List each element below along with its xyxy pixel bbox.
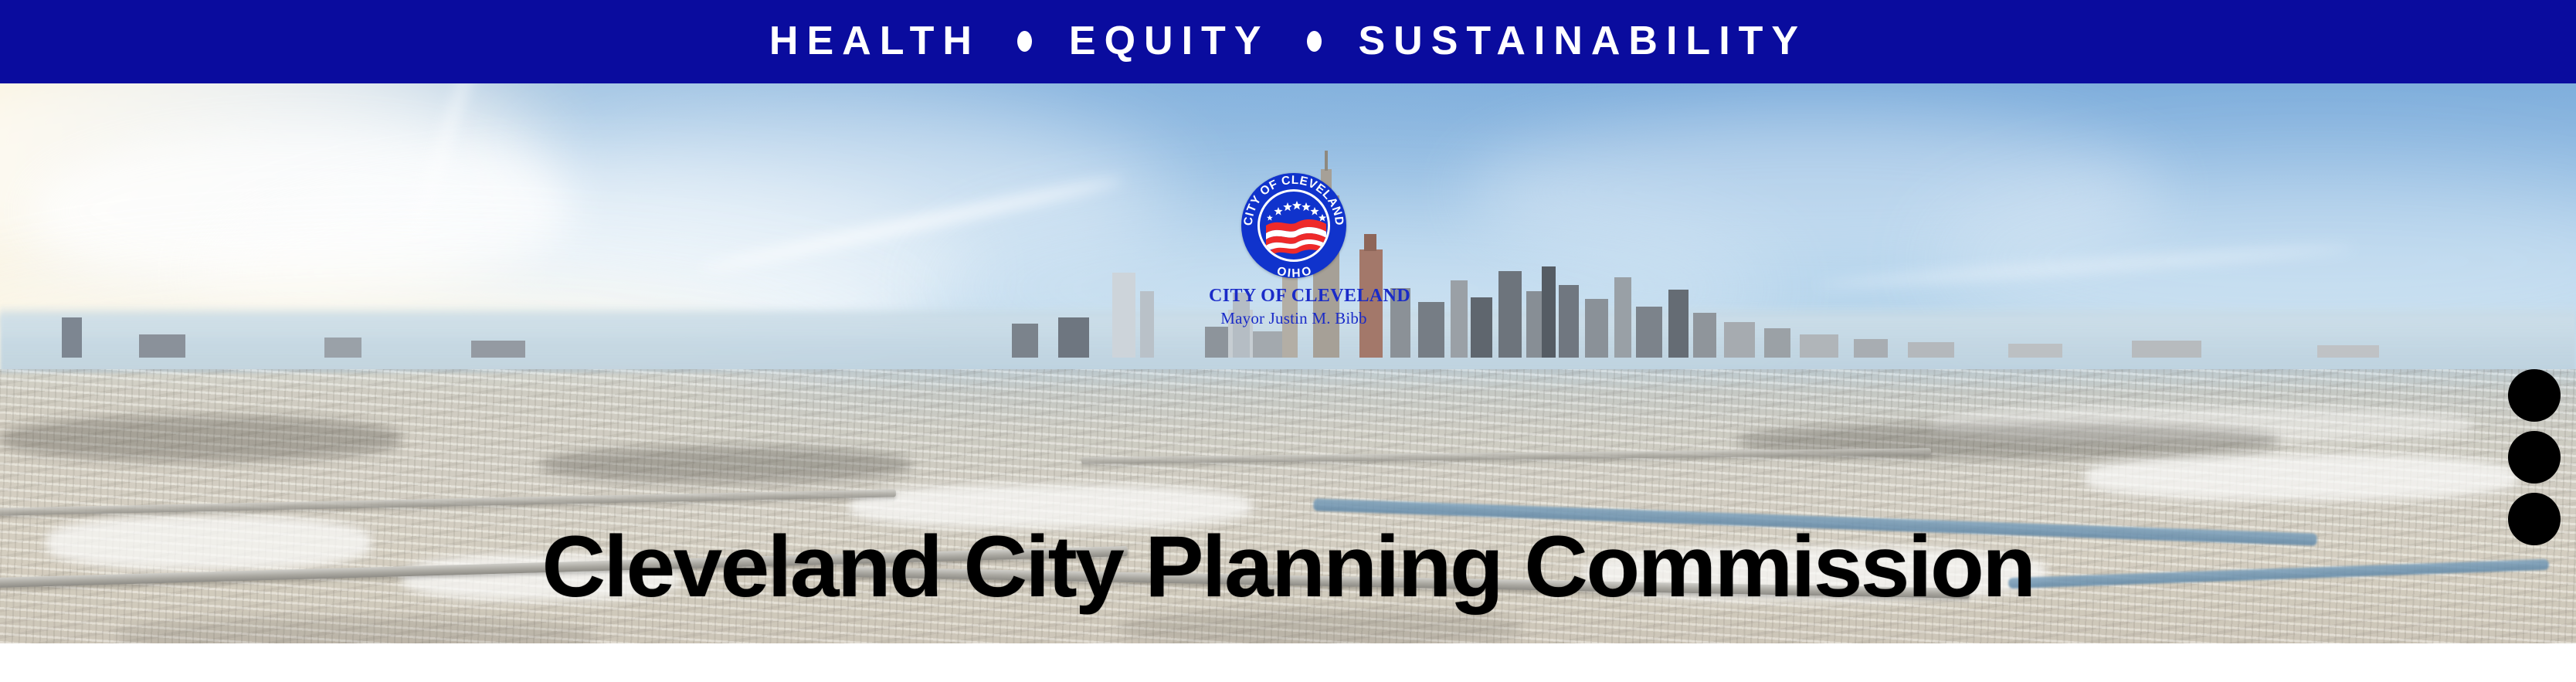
tagline-row: HEALTH EQUITY SUSTAINABILITY xyxy=(769,21,1807,61)
page-root: HEALTH EQUITY SUSTAINABILITY xyxy=(0,0,2576,682)
city-of-cleveland-seal-icon: CITY OF CLEVELAND OHIO xyxy=(1241,173,1346,278)
seal-title: CITY OF CLEVELAND xyxy=(1209,287,1379,306)
page-title: Cleveland City Planning Commission xyxy=(0,524,2576,610)
instagram-icon[interactable] xyxy=(2508,431,2561,484)
tree-line xyxy=(116,616,595,643)
page-bottom-whitespace xyxy=(0,643,2576,682)
snow-patch xyxy=(2086,454,2518,500)
tagline-word-health: HEALTH xyxy=(769,21,980,61)
tagline-banner: HEALTH EQUITY SUSTAINABILITY xyxy=(0,0,2576,83)
seal-flag-icon xyxy=(1260,192,1330,262)
seal-subtitle-mayor: Mayor Justin M. Bibb xyxy=(1209,310,1379,327)
tagline-word-sustainability: SUSTAINABILITY xyxy=(1359,21,1807,61)
tree-line xyxy=(541,446,911,484)
tagline-word-equity: EQUITY xyxy=(1069,21,1270,61)
social-links-rail xyxy=(2503,369,2565,545)
seal-inner-disc xyxy=(1257,189,1330,262)
youtube-icon[interactable] xyxy=(2508,369,2561,422)
facebook-icon[interactable] xyxy=(2508,493,2561,545)
hero-photo: CITY OF CLEVELAND OHIO xyxy=(0,83,2576,643)
tree-line xyxy=(0,416,402,462)
tagline-separator-dot-2 xyxy=(1307,31,1322,52)
city-seal-block: CITY OF CLEVELAND OHIO xyxy=(1209,173,1379,327)
tagline-separator-dot-1 xyxy=(1017,31,1032,52)
